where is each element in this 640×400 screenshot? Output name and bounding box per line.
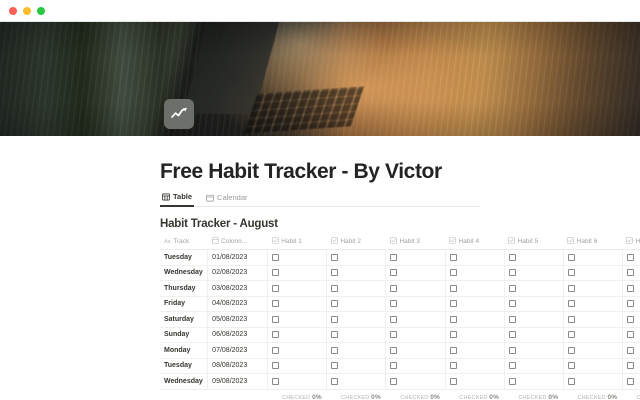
footer-checked-habit-6[interactable]: CHECKED 0% <box>563 389 622 400</box>
cell-habit-3[interactable] <box>386 343 445 359</box>
checkbox-icon <box>508 237 515 246</box>
table-row[interactable]: Monday07/08/2023 <box>160 343 640 359</box>
cell-habit-6[interactable] <box>563 327 622 343</box>
cell-day[interactable]: Thursday <box>160 281 208 297</box>
footer-checked-label: CHECKED <box>341 395 369 400</box>
column-header-label: Habit 3 <box>399 238 420 245</box>
cell-habit-1[interactable] <box>268 250 327 266</box>
text-aa-icon: Aa <box>164 239 171 245</box>
cell-habit-2[interactable] <box>327 327 386 343</box>
column-header-label: Colonn... <box>221 238 247 245</box>
footer-checked-habit-5[interactable]: CHECKED 0% <box>504 389 563 400</box>
tab-calendar-label: Calendar <box>217 193 247 202</box>
footer-checked-habit-3[interactable]: CHECKED 0% <box>386 389 445 400</box>
checkbox-icon[interactable] <box>331 269 338 276</box>
cell-habit-1[interactable] <box>268 374 327 390</box>
column-header-track[interactable]: AaTrack <box>160 235 208 250</box>
checkbox-icon[interactable] <box>509 331 516 338</box>
footer-checked-habit-1[interactable]: CHECKED 0% <box>268 389 327 400</box>
cell-habit-6[interactable] <box>563 250 622 266</box>
calendar-icon <box>206 194 214 202</box>
footer-checked-value: 0% <box>489 394 499 400</box>
checkbox-icon[interactable] <box>568 254 575 261</box>
cell-habit-1[interactable] <box>268 312 327 328</box>
cell-day[interactable]: Tuesday <box>160 250 208 266</box>
footer-checked-label: CHECKED <box>459 395 487 400</box>
checkbox-icon <box>331 237 338 246</box>
cell-habit-3[interactable] <box>386 265 445 281</box>
cell-habit-2[interactable] <box>327 265 386 281</box>
checkbox-icon[interactable] <box>450 285 457 292</box>
checkbox-icon[interactable] <box>627 269 634 276</box>
cell-habit-6[interactable] <box>563 281 622 297</box>
checkbox-icon[interactable] <box>390 331 397 338</box>
minimize-button[interactable] <box>23 7 31 15</box>
column-header-habit-3[interactable]: Habit 3 <box>386 235 445 250</box>
checkbox-icon[interactable] <box>568 300 575 307</box>
cell-day[interactable]: Friday <box>160 296 208 312</box>
cell-habit-1[interactable] <box>268 358 327 374</box>
checkbox-icon[interactable] <box>627 347 634 354</box>
checkbox-icon[interactable] <box>390 347 397 354</box>
checkbox-icon[interactable] <box>568 316 575 323</box>
footer-checked-value: 0% <box>607 394 617 400</box>
zoom-button[interactable] <box>37 7 45 15</box>
footer-spacer-date <box>208 389 268 400</box>
checkbox-icon[interactable] <box>450 300 457 307</box>
checkbox-icon <box>390 237 397 246</box>
cell-habit-2[interactable] <box>327 250 386 266</box>
cell-habit-2[interactable] <box>327 358 386 374</box>
checkbox-icon[interactable] <box>331 285 338 292</box>
cell-date[interactable]: 07/08/2023 <box>208 343 268 359</box>
checkbox-icon[interactable] <box>509 269 516 276</box>
database-table: AaTrackColonn...Habit 1Habit 2Habit 3Hab… <box>160 235 640 400</box>
footer-checked-habit-4[interactable]: CHECKED 0% <box>445 389 504 400</box>
footer-checked-label: CHECKED <box>518 395 546 400</box>
table-header-row: AaTrackColonn...Habit 1Habit 2Habit 3Hab… <box>160 235 640 250</box>
checkbox-icon <box>626 237 633 246</box>
page-cover-image[interactable] <box>0 22 640 136</box>
column-header-habit-5[interactable]: Habit 5 <box>504 235 563 250</box>
checkbox-icon[interactable] <box>272 300 279 307</box>
checkbox-icon[interactable] <box>509 300 516 307</box>
cell-day[interactable]: Wednesday <box>160 265 208 281</box>
cell-date[interactable]: 06/08/2023 <box>208 327 268 343</box>
footer-checked-label: CHECKED <box>282 395 310 400</box>
checkbox-icon[interactable] <box>627 316 634 323</box>
footer-checked-label: CHECKED <box>637 395 640 400</box>
column-header-label: Track <box>173 238 189 245</box>
tab-table-label: Table <box>173 192 192 201</box>
column-header-habit-7[interactable]: Habit 7 <box>622 235 640 250</box>
cell-habit-4[interactable] <box>445 327 504 343</box>
checkbox-icon[interactable] <box>509 254 516 261</box>
cell-habit-5[interactable] <box>504 281 563 297</box>
cell-date[interactable]: 05/08/2023 <box>208 312 268 328</box>
footer-spacer-track <box>160 389 208 400</box>
cell-habit-1[interactable] <box>268 343 327 359</box>
cell-habit-1[interactable] <box>268 281 327 297</box>
cell-habit-2[interactable] <box>327 343 386 359</box>
checkbox-icon[interactable] <box>272 269 279 276</box>
checkbox-icon[interactable] <box>627 378 634 385</box>
cell-habit-6[interactable] <box>563 312 622 328</box>
column-header-label: Habit 1 <box>281 238 302 245</box>
table-row[interactable]: Friday04/08/2023 <box>160 296 640 312</box>
checkbox-icon[interactable] <box>331 347 338 354</box>
checkbox-icon <box>567 237 574 246</box>
cell-habit-5[interactable] <box>504 250 563 266</box>
checkbox-icon <box>272 237 279 246</box>
table-row[interactable]: Tuesday01/08/2023 <box>160 250 640 266</box>
table-header: AaTrackColonn...Habit 1Habit 2Habit 3Hab… <box>160 235 640 250</box>
checkbox-icon[interactable] <box>390 300 397 307</box>
table-footer-row: CHECKED 0%CHECKED 0%CHECKED 0%CHECKED 0%… <box>160 389 640 400</box>
cell-day[interactable]: Sunday <box>160 327 208 343</box>
footer-checked-label: CHECKED <box>400 395 428 400</box>
tab-table[interactable]: Table <box>160 192 194 207</box>
checkbox-icon[interactable] <box>272 285 279 292</box>
footer-checked-value: 0% <box>312 394 322 400</box>
checkbox-icon[interactable] <box>509 378 516 385</box>
table-row[interactable]: Tuesday08/08/2023 <box>160 358 640 374</box>
footer-checked-label: CHECKED <box>577 395 605 400</box>
checkbox-icon[interactable] <box>509 316 516 323</box>
table-row[interactable]: Wednesday09/08/2023 <box>160 374 640 390</box>
cell-habit-6[interactable] <box>563 343 622 359</box>
cell-habit-7[interactable] <box>622 358 640 374</box>
cell-day[interactable]: Wednesday <box>160 374 208 390</box>
footer-checked-habit-7[interactable]: CHECKED 0% <box>622 389 640 400</box>
checkbox-icon[interactable] <box>627 300 634 307</box>
database-title[interactable]: Habit Tracker - August <box>160 218 640 230</box>
cell-habit-7[interactable] <box>622 312 640 328</box>
table-footer: CHECKED 0%CHECKED 0%CHECKED 0%CHECKED 0%… <box>160 389 640 400</box>
footer-checked-value: 0% <box>548 394 558 400</box>
tab-calendar[interactable]: Calendar <box>204 193 249 206</box>
table-row[interactable]: Wednesday02/08/2023 <box>160 265 640 281</box>
checkbox-icon[interactable] <box>450 269 457 276</box>
database-table-scroll[interactable]: AaTrackColonn...Habit 1Habit 2Habit 3Hab… <box>160 235 640 400</box>
cell-habit-7[interactable] <box>622 296 640 312</box>
cell-habit-5[interactable] <box>504 265 563 281</box>
table-icon <box>162 193 170 201</box>
column-header-habit-2[interactable]: Habit 2 <box>327 235 386 250</box>
cell-habit-4[interactable] <box>445 250 504 266</box>
cell-date[interactable]: 09/08/2023 <box>208 374 268 390</box>
cell-habit-5[interactable] <box>504 358 563 374</box>
cell-habit-4[interactable] <box>445 343 504 359</box>
checkbox-icon[interactable] <box>390 316 397 323</box>
cell-habit-1[interactable] <box>268 327 327 343</box>
cell-date[interactable]: 04/08/2023 <box>208 296 268 312</box>
checkbox-icon[interactable] <box>450 254 457 261</box>
cell-habit-4[interactable] <box>445 265 504 281</box>
cell-date[interactable]: 02/08/2023 <box>208 265 268 281</box>
table-body: Tuesday01/08/2023Wednesday02/08/2023Thur… <box>160 250 640 390</box>
footer-checked-habit-2[interactable]: CHECKED 0% <box>327 389 386 400</box>
cell-habit-6[interactable] <box>563 296 622 312</box>
checkbox-icon[interactable] <box>509 362 516 369</box>
table-row[interactable]: Thursday03/08/2023 <box>160 281 640 297</box>
checkbox-icon[interactable] <box>390 285 397 292</box>
cell-habit-5[interactable] <box>504 296 563 312</box>
cell-habit-2[interactable] <box>327 374 386 390</box>
checkbox-icon[interactable] <box>272 347 279 354</box>
cell-habit-4[interactable] <box>445 312 504 328</box>
checkbox-icon[interactable] <box>390 378 397 385</box>
table-row[interactable]: Sunday06/08/2023 <box>160 327 640 343</box>
column-header-habit-6[interactable]: Habit 6 <box>563 235 622 250</box>
checkbox-icon[interactable] <box>272 254 279 261</box>
checkbox-icon[interactable] <box>450 378 457 385</box>
checkbox-icon[interactable] <box>331 316 338 323</box>
cell-habit-1[interactable] <box>268 296 327 312</box>
column-header-label: Habit 6 <box>577 238 598 245</box>
view-tabs: Table Calendar <box>160 192 480 207</box>
cell-habit-4[interactable] <box>445 374 504 390</box>
column-header-habit-4[interactable]: Habit 4 <box>445 235 504 250</box>
cell-habit-6[interactable] <box>563 358 622 374</box>
table-row[interactable]: Saturday05/08/2023 <box>160 312 640 328</box>
cell-habit-3[interactable] <box>386 250 445 266</box>
cell-habit-6[interactable] <box>563 374 622 390</box>
checkbox-icon[interactable] <box>390 362 397 369</box>
cell-habit-5[interactable] <box>504 327 563 343</box>
cell-day[interactable]: Monday <box>160 343 208 359</box>
checkbox-icon[interactable] <box>627 362 634 369</box>
cell-habit-5[interactable] <box>504 374 563 390</box>
cell-habit-1[interactable] <box>268 265 327 281</box>
cell-habit-7[interactable] <box>622 250 640 266</box>
cell-habit-2[interactable] <box>327 312 386 328</box>
checkbox-icon[interactable] <box>450 362 457 369</box>
checkbox-icon[interactable] <box>331 362 338 369</box>
checkbox-icon[interactable] <box>390 254 397 261</box>
column-header-label: Habit 2 <box>340 238 361 245</box>
checkbox-icon[interactable] <box>568 347 575 354</box>
chart-increasing-icon[interactable] <box>164 99 194 129</box>
app-window: Free Habit Tracker - By Victor Table <box>0 0 640 400</box>
checkbox-icon[interactable] <box>568 331 575 338</box>
checkbox-icon[interactable] <box>627 285 634 292</box>
checkbox-icon[interactable] <box>450 316 457 323</box>
cell-habit-3[interactable] <box>386 374 445 390</box>
checkbox-icon[interactable] <box>450 331 457 338</box>
checkbox-icon[interactable] <box>390 269 397 276</box>
column-header-colonn[interactable]: Colonn... <box>208 235 268 250</box>
window-titlebar <box>0 0 640 22</box>
cell-date[interactable]: 03/08/2023 <box>208 281 268 297</box>
cell-habit-3[interactable] <box>386 312 445 328</box>
cell-habit-5[interactable] <box>504 312 563 328</box>
column-header-habit-1[interactable]: Habit 1 <box>268 235 327 250</box>
column-header-label: Habit 7 <box>636 238 640 245</box>
checkbox-icon[interactable] <box>450 347 457 354</box>
cell-habit-7[interactable] <box>622 343 640 359</box>
checkbox-icon[interactable] <box>509 285 516 292</box>
column-header-label: Habit 5 <box>518 238 539 245</box>
checkbox-icon[interactable] <box>272 331 279 338</box>
cell-habit-3[interactable] <box>386 296 445 312</box>
date-icon <box>212 237 219 246</box>
cell-habit-7[interactable] <box>622 327 640 343</box>
checkbox-icon[interactable] <box>272 378 279 385</box>
checkbox-icon[interactable] <box>627 331 634 338</box>
checkbox-icon[interactable] <box>627 254 634 261</box>
cell-habit-7[interactable] <box>622 281 640 297</box>
checkbox-icon <box>449 237 456 246</box>
checkbox-icon[interactable] <box>568 285 575 292</box>
cell-habit-7[interactable] <box>622 265 640 281</box>
cell-day[interactable]: Saturday <box>160 312 208 328</box>
page-title[interactable]: Free Habit Tracker - By Victor <box>160 160 640 183</box>
column-header-label: Habit 4 <box>459 238 480 245</box>
cell-habit-4[interactable] <box>445 296 504 312</box>
cell-habit-2[interactable] <box>327 296 386 312</box>
cell-day[interactable]: Tuesday <box>160 358 208 374</box>
checkbox-icon[interactable] <box>331 254 338 261</box>
checkbox-icon[interactable] <box>331 300 338 307</box>
cell-habit-4[interactable] <box>445 281 504 297</box>
cell-habit-3[interactable] <box>386 281 445 297</box>
cell-habit-5[interactable] <box>504 343 563 359</box>
checkbox-icon[interactable] <box>272 362 279 369</box>
checkbox-icon[interactable] <box>509 347 516 354</box>
checkbox-icon[interactable] <box>568 362 575 369</box>
checkbox-icon[interactable] <box>568 269 575 276</box>
checkbox-icon[interactable] <box>568 378 575 385</box>
cell-date[interactable]: 08/08/2023 <box>208 358 268 374</box>
footer-checked-value: 0% <box>371 394 381 400</box>
close-button[interactable] <box>9 7 17 15</box>
cell-habit-6[interactable] <box>563 265 622 281</box>
cover-vignette <box>0 22 640 136</box>
cell-habit-3[interactable] <box>386 327 445 343</box>
cell-habit-3[interactable] <box>386 358 445 374</box>
document-body: Free Habit Tracker - By Victor Table <box>160 136 640 400</box>
checkbox-icon[interactable] <box>272 316 279 323</box>
checkbox-icon[interactable] <box>331 331 338 338</box>
checkbox-icon[interactable] <box>331 378 338 385</box>
cell-habit-7[interactable] <box>622 374 640 390</box>
cell-habit-2[interactable] <box>327 281 386 297</box>
cell-date[interactable]: 01/08/2023 <box>208 250 268 266</box>
cell-habit-4[interactable] <box>445 358 504 374</box>
footer-checked-value: 0% <box>430 394 440 400</box>
